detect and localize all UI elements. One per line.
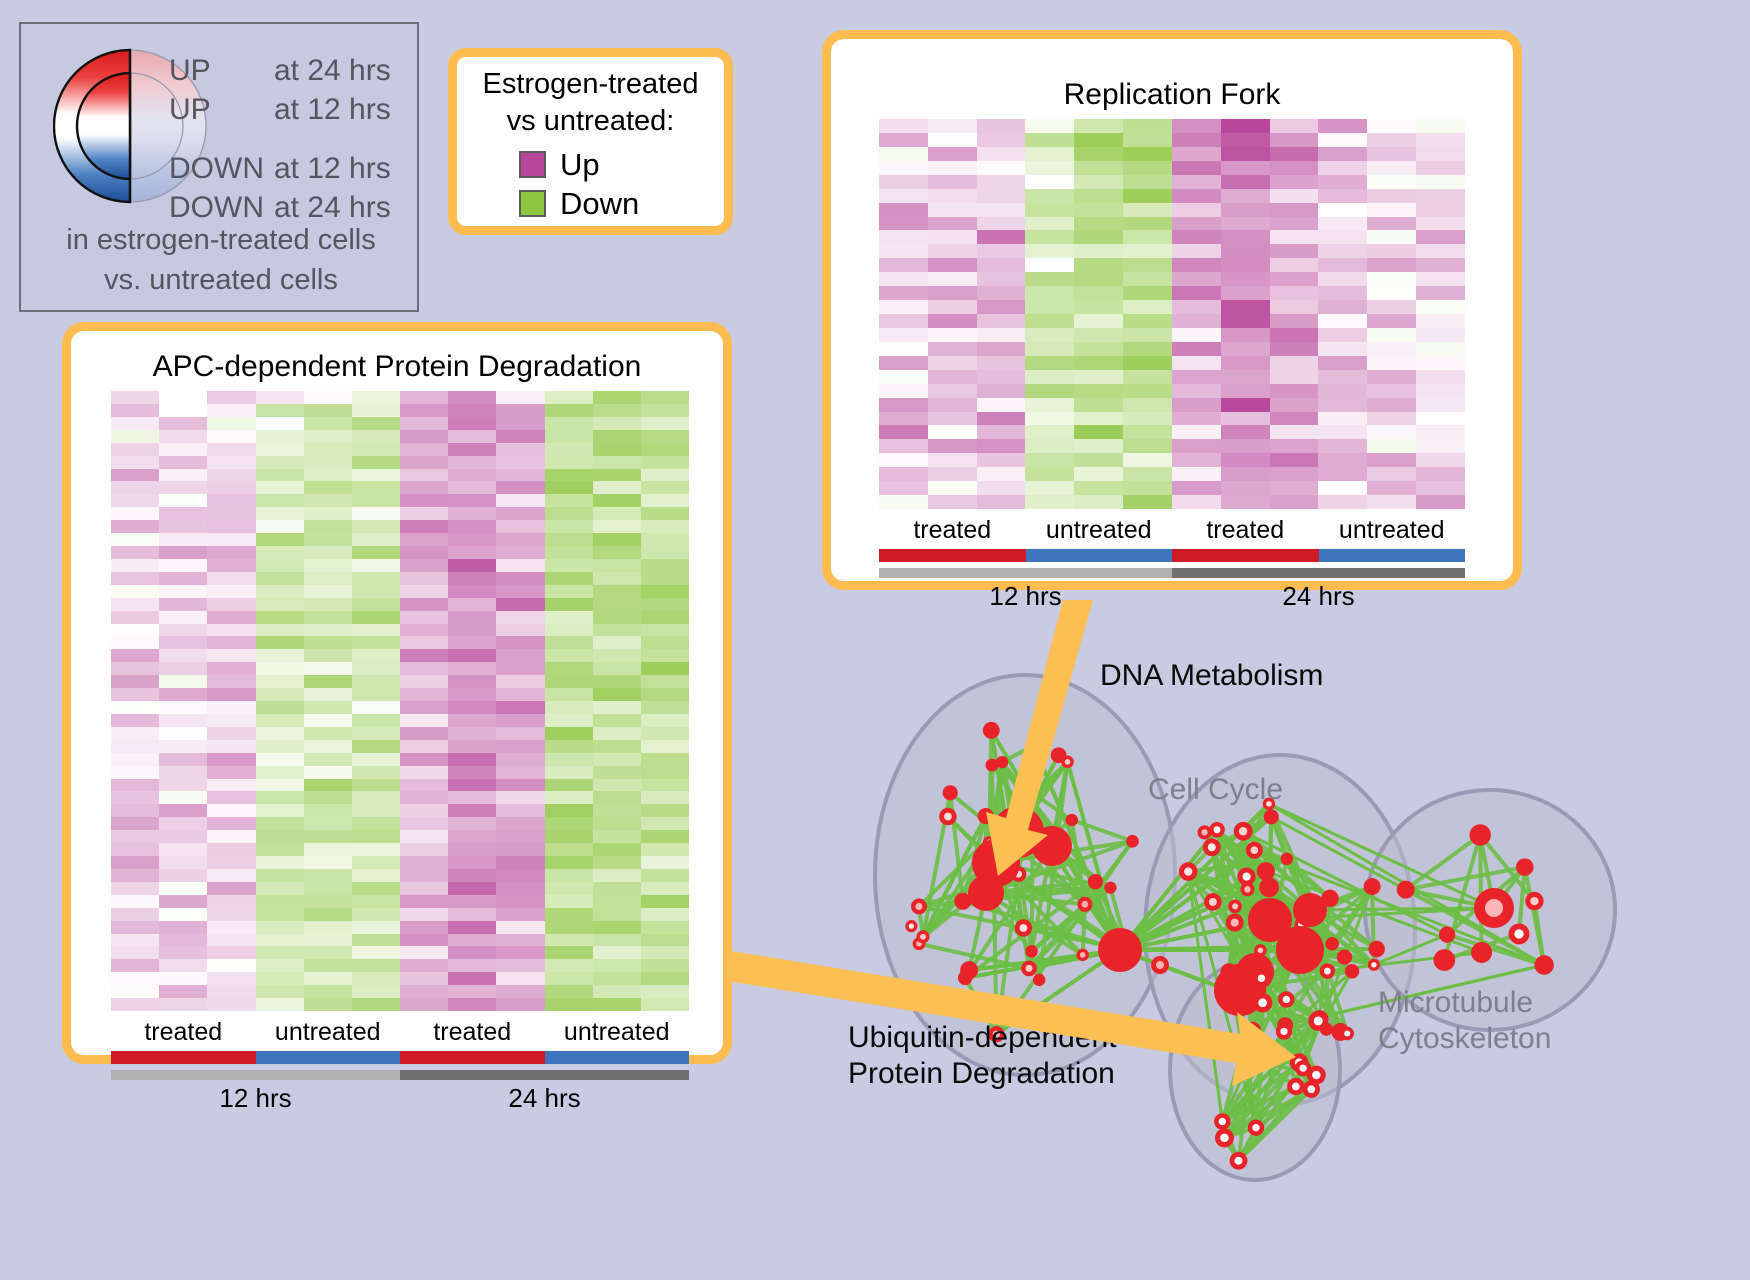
heatmap-cell bbox=[400, 998, 448, 1011]
heatmap-cell bbox=[256, 533, 304, 546]
heatmap-cell bbox=[159, 559, 207, 572]
heatmap-cell bbox=[159, 779, 207, 792]
up-color-swatch bbox=[519, 151, 546, 178]
heatmap-cell bbox=[1123, 300, 1172, 314]
heatmap-cell bbox=[496, 869, 544, 882]
heatmap-cell bbox=[1416, 398, 1465, 412]
heatmap-cell bbox=[256, 598, 304, 611]
heatmap-cell bbox=[496, 843, 544, 856]
heatmap-cell bbox=[1172, 244, 1221, 258]
heatmap-cell bbox=[928, 230, 977, 244]
bar-treated-24 bbox=[400, 1051, 545, 1064]
heatmap-cell bbox=[545, 507, 593, 520]
heatmap-cell bbox=[207, 675, 255, 688]
heatmap-cell bbox=[207, 934, 255, 947]
heatmap-cell bbox=[593, 843, 641, 856]
heatmap-cell bbox=[1025, 453, 1074, 467]
heatmap-cell bbox=[641, 688, 689, 701]
heatmap-cell bbox=[545, 882, 593, 895]
heatmap-cell bbox=[1318, 370, 1367, 384]
heatmap-cell bbox=[400, 830, 448, 843]
heatmap-cell bbox=[545, 598, 593, 611]
heatmap-cell bbox=[304, 611, 352, 624]
heatmap-cell bbox=[400, 430, 448, 443]
heatmap-cell bbox=[111, 520, 159, 533]
heatmap-cell bbox=[496, 507, 544, 520]
heatmap-cell bbox=[1367, 481, 1416, 495]
heatmap-cell bbox=[207, 921, 255, 934]
heatmap-cell bbox=[1221, 370, 1270, 384]
heatmap-cell bbox=[977, 300, 1026, 314]
heatmap-cell bbox=[977, 314, 1026, 328]
heatmap-cell bbox=[496, 740, 544, 753]
heatmap-cell bbox=[207, 611, 255, 624]
heatmap-cell bbox=[207, 753, 255, 766]
network-node bbox=[1276, 926, 1324, 974]
wheel-time: at 12 hrs bbox=[274, 95, 391, 125]
heatmap-cell bbox=[545, 740, 593, 753]
down-color-swatch bbox=[519, 190, 546, 217]
network-node bbox=[1236, 953, 1274, 991]
heatmap-cell bbox=[496, 391, 544, 404]
heatmap-cell bbox=[352, 895, 400, 908]
heatmap-cell bbox=[352, 443, 400, 456]
heatmap-cell bbox=[159, 494, 207, 507]
heatmap-cell bbox=[207, 946, 255, 959]
heatmap-cell bbox=[207, 817, 255, 830]
heatmap-cell bbox=[400, 688, 448, 701]
heatmap-cell bbox=[1367, 398, 1416, 412]
heatmap-cell bbox=[159, 972, 207, 985]
network-node-core bbox=[1082, 901, 1089, 908]
heatmap-cell bbox=[545, 559, 593, 572]
heatmap-cell bbox=[448, 830, 496, 843]
heatmap-cell bbox=[352, 598, 400, 611]
heatmap-cell bbox=[352, 585, 400, 598]
heatmap-cell bbox=[545, 572, 593, 585]
heatmap-cell bbox=[593, 507, 641, 520]
network-node bbox=[1471, 942, 1492, 963]
heatmap-cell bbox=[593, 985, 641, 998]
heatmap-cell bbox=[352, 404, 400, 417]
heatmap-cell bbox=[352, 843, 400, 856]
heatmap-cell bbox=[1416, 119, 1465, 133]
cluster-label-ubiquitin-degradation: Ubiquitin-dependent Protein Degradation bbox=[848, 1020, 1117, 1092]
heatmap-cell bbox=[1172, 217, 1221, 231]
heatmap-cell bbox=[977, 258, 1026, 272]
heatmap-cell bbox=[641, 895, 689, 908]
heatmap-cell bbox=[928, 203, 977, 217]
heatmap-cell bbox=[928, 425, 977, 439]
network-node-core bbox=[1258, 1058, 1266, 1066]
heatmap-cell bbox=[111, 649, 159, 662]
heatmap-cell bbox=[1416, 439, 1465, 453]
heatmap-cell bbox=[593, 856, 641, 869]
heatmap-cell bbox=[545, 727, 593, 740]
heatmap-cell bbox=[928, 439, 977, 453]
heatmap-cell bbox=[1416, 133, 1465, 147]
heatmap-cell bbox=[1221, 300, 1270, 314]
cluster-label-line-1: Microtubule bbox=[1378, 985, 1551, 1021]
heatmap-cell bbox=[641, 791, 689, 804]
heatmap-cell bbox=[977, 481, 1026, 495]
heatmap-cell bbox=[1318, 133, 1367, 147]
heatmap-cell bbox=[1025, 342, 1074, 356]
heatmap-cell bbox=[256, 520, 304, 533]
heatmap-cell bbox=[1416, 300, 1465, 314]
heatmap-cell bbox=[256, 624, 304, 637]
heatmap-cell bbox=[545, 921, 593, 934]
heatmap-cell bbox=[448, 895, 496, 908]
heatmap-cell bbox=[496, 882, 544, 895]
heatmap-cell bbox=[1270, 412, 1319, 426]
group-label: untreated bbox=[1026, 515, 1173, 546]
heatmap-cell bbox=[159, 546, 207, 559]
heatmap-cell bbox=[256, 430, 304, 443]
heatmap-cell bbox=[641, 624, 689, 637]
heatmap-cell bbox=[593, 572, 641, 585]
heatmap-cell bbox=[593, 882, 641, 895]
heatmap-cell bbox=[304, 972, 352, 985]
network-node bbox=[978, 808, 994, 824]
network-node-core bbox=[1248, 1027, 1256, 1035]
heatmap-cell bbox=[1318, 175, 1367, 189]
heatmap-cell bbox=[111, 830, 159, 843]
heatmap-cell bbox=[304, 430, 352, 443]
heatmap-cell bbox=[448, 843, 496, 856]
heatmap-cell bbox=[496, 959, 544, 972]
heatmap-cell bbox=[111, 998, 159, 1011]
cluster-label-cell-cycle: Cell Cycle bbox=[1148, 772, 1283, 808]
heatmap-cell bbox=[159, 481, 207, 494]
heatmap-cell bbox=[352, 830, 400, 843]
bar-untreated-24 bbox=[545, 1051, 690, 1064]
heatmap-cell bbox=[400, 469, 448, 482]
heatmap-cell bbox=[593, 817, 641, 830]
heatmap-cell bbox=[111, 740, 159, 753]
heatmap-cell bbox=[1270, 342, 1319, 356]
heatmap-cell bbox=[1416, 356, 1465, 370]
heatmap-cell bbox=[448, 934, 496, 947]
heatmap-cell bbox=[448, 494, 496, 507]
heatmap-cell bbox=[256, 572, 304, 585]
heatmap-cell bbox=[1123, 203, 1172, 217]
heatmap-cell bbox=[545, 701, 593, 714]
heatmap-cell bbox=[400, 662, 448, 675]
heatmap-cell bbox=[207, 559, 255, 572]
heatmap-cell bbox=[400, 882, 448, 895]
heatmap-cell bbox=[641, 740, 689, 753]
heatmap-cell bbox=[1221, 203, 1270, 217]
heatmap-cell bbox=[304, 598, 352, 611]
heatmap-cell bbox=[256, 546, 304, 559]
heatmap-cell bbox=[977, 133, 1026, 147]
heatmap-cell bbox=[256, 507, 304, 520]
network-node-core bbox=[1485, 899, 1503, 917]
network-node-core bbox=[1235, 1157, 1243, 1165]
heatmap-cell bbox=[304, 701, 352, 714]
heatmap-cell bbox=[928, 175, 977, 189]
heatmap-cell bbox=[879, 217, 928, 231]
group-color-bar bbox=[111, 1051, 689, 1064]
heatmap-cell bbox=[159, 753, 207, 766]
heatmap-cell bbox=[111, 507, 159, 520]
heatmap-cell bbox=[1123, 314, 1172, 328]
heatmap-cell bbox=[1025, 161, 1074, 175]
heatmap-cell bbox=[1270, 244, 1319, 258]
heatmap-cell bbox=[304, 921, 352, 934]
heatmap-cell bbox=[400, 507, 448, 520]
heatmap-cell bbox=[641, 714, 689, 727]
heatmap-cell bbox=[207, 507, 255, 520]
heatmap-cell bbox=[159, 998, 207, 1011]
heatmap-cell bbox=[879, 258, 928, 272]
heatmap-cell bbox=[1416, 453, 1465, 467]
heatmap-cell bbox=[448, 572, 496, 585]
heatmap-cell bbox=[1123, 495, 1172, 509]
heatmap-cell bbox=[207, 688, 255, 701]
heatmap-cell bbox=[1172, 328, 1221, 342]
heatmap-cell bbox=[159, 701, 207, 714]
heatmap-cell bbox=[1074, 217, 1123, 231]
heatmap-cell bbox=[1367, 370, 1416, 384]
heatmap-cell bbox=[1025, 425, 1074, 439]
heatmap-cell bbox=[496, 998, 544, 1011]
heatmap-cell bbox=[352, 766, 400, 779]
heatmap-cell bbox=[593, 546, 641, 559]
heatmap-cell bbox=[256, 921, 304, 934]
heatmap-cell bbox=[1318, 356, 1367, 370]
heatmap-cell bbox=[593, 481, 641, 494]
heatmap-cell bbox=[593, 662, 641, 675]
heatmap-cell bbox=[928, 495, 977, 509]
heatmap-cell bbox=[593, 869, 641, 882]
heatmap-cell bbox=[593, 959, 641, 972]
network-node-core bbox=[1239, 827, 1247, 835]
heatmap-cell bbox=[207, 959, 255, 972]
heatmap-cell bbox=[1367, 203, 1416, 217]
heatmap-cell bbox=[641, 662, 689, 675]
heatmap-cell bbox=[207, 985, 255, 998]
heatmap-cell bbox=[545, 546, 593, 559]
caption-line-1: in estrogen-treated cells bbox=[21, 220, 421, 260]
heatmap-cell bbox=[496, 456, 544, 469]
heatmap-cell bbox=[1318, 398, 1367, 412]
heatmap-cell bbox=[1025, 467, 1074, 481]
heatmap-cell bbox=[928, 189, 977, 203]
heatmap-cell bbox=[304, 779, 352, 792]
heatmap-cell bbox=[879, 370, 928, 384]
heatmap-cell bbox=[928, 300, 977, 314]
heatmap-cell bbox=[1172, 356, 1221, 370]
heatmap-cell bbox=[159, 908, 207, 921]
heatmap-cell bbox=[159, 688, 207, 701]
heatmap-cell bbox=[641, 908, 689, 921]
heatmap-cell bbox=[1221, 356, 1270, 370]
heatmap-cell bbox=[448, 469, 496, 482]
heatmap-cell bbox=[641, 520, 689, 533]
heatmap-cell bbox=[1123, 342, 1172, 356]
heatmap-cell bbox=[1074, 258, 1123, 272]
heatmap-cell bbox=[1074, 342, 1123, 356]
heatmap-cell bbox=[1270, 300, 1319, 314]
network-node-core bbox=[1209, 898, 1217, 906]
heatmap-cell bbox=[593, 585, 641, 598]
panel-title: Replication Fork bbox=[831, 77, 1513, 113]
heatmap-cell bbox=[1123, 467, 1172, 481]
heatmap-cell bbox=[448, 649, 496, 662]
heatmap-cell bbox=[1123, 244, 1172, 258]
heatmap-cell bbox=[879, 481, 928, 495]
wheel-time: at 24 hrs bbox=[274, 56, 391, 86]
heatmap-cell bbox=[1025, 495, 1074, 509]
heatmap-cell bbox=[256, 701, 304, 714]
heatmap-cell bbox=[256, 753, 304, 766]
heatmap-cell bbox=[928, 467, 977, 481]
heatmap-cell bbox=[1221, 258, 1270, 272]
heatmap-cell bbox=[448, 456, 496, 469]
heatmap-cell bbox=[1367, 412, 1416, 426]
heatmap-cell bbox=[977, 328, 1026, 342]
heatmap-cell bbox=[352, 985, 400, 998]
network-node-core bbox=[1252, 1124, 1259, 1131]
network-node-core bbox=[1312, 1071, 1320, 1079]
heatmap-cell bbox=[928, 244, 977, 258]
heatmap-cell bbox=[256, 675, 304, 688]
network-node-core bbox=[1258, 998, 1267, 1007]
heatmap-cell bbox=[1074, 384, 1123, 398]
heatmap-cell bbox=[1270, 119, 1319, 133]
heatmap-cell bbox=[977, 189, 1026, 203]
heatmap-cell bbox=[641, 830, 689, 843]
heatmap-cell bbox=[641, 804, 689, 817]
heatmap-cell bbox=[496, 404, 544, 417]
heatmap-cell bbox=[256, 817, 304, 830]
heatmap-cell bbox=[496, 417, 544, 430]
heatmap-cell bbox=[400, 701, 448, 714]
heatmap-cell bbox=[400, 624, 448, 637]
heatmap-cell bbox=[448, 882, 496, 895]
heatmap-cell bbox=[977, 398, 1026, 412]
heatmap-cell bbox=[1318, 147, 1367, 161]
timepoint-label-row: 12 hrs 24 hrs bbox=[879, 578, 1465, 614]
updown-title-line-1: Estrogen-treated bbox=[457, 66, 724, 103]
heatmap-cell bbox=[496, 572, 544, 585]
heatmap-cell bbox=[545, 456, 593, 469]
heatmap-cell bbox=[111, 882, 159, 895]
heatmap-cell bbox=[641, 934, 689, 947]
heatmap-cell bbox=[1221, 119, 1270, 133]
heatmap-cell bbox=[448, 507, 496, 520]
heatmap-cell bbox=[496, 856, 544, 869]
panel-replication-fork: Replication Fork treated untreated treat… bbox=[822, 30, 1522, 590]
heatmap-cell bbox=[400, 934, 448, 947]
heatmap-cell bbox=[1367, 258, 1416, 272]
heatmap-cell bbox=[111, 662, 159, 675]
heatmap-cell bbox=[977, 175, 1026, 189]
bar-untreated-12 bbox=[1026, 549, 1173, 562]
heatmap-cell bbox=[496, 585, 544, 598]
heatmap-cell bbox=[593, 921, 641, 934]
heatmap-cell bbox=[111, 714, 159, 727]
heatmap-cell bbox=[1367, 272, 1416, 286]
heatmap-cell bbox=[1123, 356, 1172, 370]
heatmap-cell bbox=[928, 147, 977, 161]
heatmap-cell bbox=[448, 624, 496, 637]
heatmap-cell bbox=[1172, 258, 1221, 272]
heatmap-cell bbox=[111, 598, 159, 611]
heatmap-cell bbox=[641, 921, 689, 934]
network-node-core bbox=[1065, 759, 1071, 765]
heatmap-cell bbox=[1270, 286, 1319, 300]
heatmap-cell bbox=[496, 481, 544, 494]
heatmap-cell bbox=[1172, 175, 1221, 189]
heatmap-cell bbox=[1367, 425, 1416, 439]
heatmap-cell bbox=[304, 934, 352, 947]
heatmap-cell bbox=[207, 494, 255, 507]
heatmap-cell bbox=[496, 753, 544, 766]
heatmap-cell bbox=[352, 908, 400, 921]
heatmap-cell bbox=[977, 412, 1026, 426]
heatmap-cell bbox=[159, 882, 207, 895]
heatmap-cell bbox=[593, 779, 641, 792]
heatmap-cell bbox=[207, 481, 255, 494]
heatmap-cell bbox=[641, 817, 689, 830]
heatmap-cell bbox=[159, 714, 207, 727]
heatmap-cell bbox=[1123, 133, 1172, 147]
network-node-core bbox=[1208, 843, 1216, 851]
heatmap-cell bbox=[1221, 467, 1270, 481]
heatmap-cell bbox=[1367, 147, 1416, 161]
heatmap-cell bbox=[593, 701, 641, 714]
heatmap-cell bbox=[496, 494, 544, 507]
heatmap-cell bbox=[977, 384, 1026, 398]
heatmap-cell bbox=[352, 701, 400, 714]
heatmap-cell bbox=[1318, 314, 1367, 328]
heatmap-cell bbox=[111, 869, 159, 882]
network-node-core bbox=[1344, 1030, 1350, 1036]
heatmap-cell bbox=[400, 520, 448, 533]
heatmap-cell bbox=[304, 533, 352, 546]
heatmap-cell bbox=[448, 959, 496, 972]
heatmap-cell bbox=[1074, 286, 1123, 300]
network-node bbox=[1126, 835, 1139, 848]
heatmap-cell bbox=[159, 934, 207, 947]
bar-treated-24 bbox=[1172, 549, 1319, 562]
heatmap-cell bbox=[159, 572, 207, 585]
heatmap-cell bbox=[1318, 244, 1367, 258]
heatmap-cell bbox=[1221, 133, 1270, 147]
heatmap-cell bbox=[1221, 286, 1270, 300]
network-node-core bbox=[1243, 872, 1251, 880]
heatmap-cell bbox=[641, 636, 689, 649]
heatmap-cell bbox=[641, 869, 689, 882]
heatmap-cell bbox=[1367, 286, 1416, 300]
heatmap-cell bbox=[1318, 495, 1367, 509]
heatmap-cell bbox=[1367, 314, 1416, 328]
heatmap-cell bbox=[1025, 244, 1074, 258]
heatmap-cell bbox=[400, 843, 448, 856]
heatmap-cell bbox=[304, 869, 352, 882]
heatmap-cell bbox=[1172, 425, 1221, 439]
heatmap-cell bbox=[1221, 398, 1270, 412]
heatmap-cell bbox=[400, 636, 448, 649]
network-node bbox=[1345, 964, 1359, 978]
heatmap-cell bbox=[159, 391, 207, 404]
heatmap-cell bbox=[593, 559, 641, 572]
heatmap-cell bbox=[448, 946, 496, 959]
heatmap-cell bbox=[400, 649, 448, 662]
